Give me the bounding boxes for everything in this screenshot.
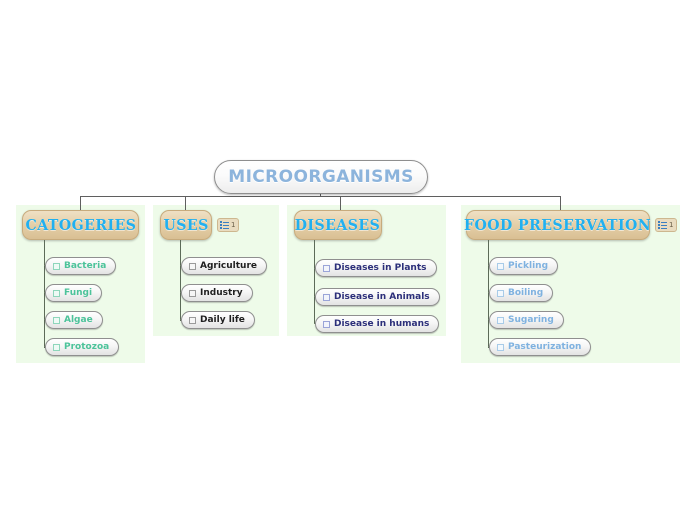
checkbox-icon[interactable] bbox=[53, 290, 60, 297]
checkbox-icon[interactable] bbox=[497, 263, 504, 270]
leaf-label: Algae bbox=[64, 316, 93, 325]
checkbox-icon[interactable] bbox=[189, 263, 196, 270]
root-node-microorganisms[interactable]: MICROORGANISMS bbox=[214, 160, 428, 194]
mindmap-canvas: MICROORGANISMS CATOGERIES Bacteria Fungi… bbox=[0, 0, 696, 520]
branch-spine-uses bbox=[180, 240, 181, 321]
checkbox-icon[interactable] bbox=[53, 317, 60, 324]
leaf-label: Protozoa bbox=[64, 343, 109, 352]
leaf-node[interactable]: Agriculture bbox=[181, 257, 267, 275]
checkbox-icon[interactable] bbox=[497, 344, 504, 351]
note-count: 1 bbox=[231, 222, 235, 229]
leaf-node[interactable]: Boiling bbox=[489, 284, 553, 302]
leaf-node[interactable]: Diseases in Plants bbox=[315, 259, 437, 277]
leaf-node[interactable]: Sugaring bbox=[489, 311, 564, 329]
leaf-label: Disease in humans bbox=[334, 320, 429, 329]
branch-header-label: USES bbox=[163, 216, 208, 234]
note-count: 1 bbox=[669, 222, 673, 229]
leaf-label: Sugaring bbox=[508, 316, 554, 325]
leaf-label: Diseases in Plants bbox=[334, 264, 427, 273]
branch-spine-diseases bbox=[314, 240, 315, 324]
root-node-label: MICROORGANISMS bbox=[228, 167, 413, 187]
branch-header-food-preservation[interactable]: FOOD PRESERVATION bbox=[466, 210, 650, 240]
leaf-label: Pickling bbox=[508, 262, 548, 271]
note-list-icon bbox=[658, 221, 667, 230]
leaf-node[interactable]: Fungi bbox=[45, 284, 102, 302]
leaf-node[interactable]: Bacteria bbox=[45, 257, 116, 275]
leaf-label: Disease in Animals bbox=[334, 293, 430, 302]
leaf-label: Agriculture bbox=[200, 262, 257, 271]
checkbox-icon[interactable] bbox=[497, 290, 504, 297]
note-badge-uses[interactable]: 1 bbox=[217, 218, 239, 232]
branch-header-catogeries[interactable]: CATOGERIES bbox=[22, 210, 139, 240]
branch-header-diseases[interactable]: DISEASES bbox=[294, 210, 382, 240]
leaf-node[interactable]: Algae bbox=[45, 311, 103, 329]
root-bus bbox=[80, 196, 561, 197]
branch-header-label: CATOGERIES bbox=[25, 216, 136, 234]
leaf-label: Industry bbox=[200, 289, 243, 298]
checkbox-icon[interactable] bbox=[189, 317, 196, 324]
checkbox-icon[interactable] bbox=[497, 317, 504, 324]
leaf-node[interactable]: Pickling bbox=[489, 257, 558, 275]
leaf-node[interactable]: Daily life bbox=[181, 311, 255, 329]
checkbox-icon[interactable] bbox=[323, 321, 330, 328]
leaf-label: Daily life bbox=[200, 316, 245, 325]
checkbox-icon[interactable] bbox=[323, 294, 330, 301]
branch-header-label: DISEASES bbox=[295, 216, 381, 234]
leaf-node[interactable]: Disease in Animals bbox=[315, 288, 440, 306]
note-badge-food-preservation[interactable]: 1 bbox=[655, 218, 677, 232]
leaf-node[interactable]: Pasteurization bbox=[489, 338, 591, 356]
checkbox-icon[interactable] bbox=[323, 265, 330, 272]
checkbox-icon[interactable] bbox=[53, 344, 60, 351]
leaf-node[interactable]: Disease in humans bbox=[315, 315, 439, 333]
checkbox-icon[interactable] bbox=[189, 290, 196, 297]
checkbox-icon[interactable] bbox=[53, 263, 60, 270]
leaf-node[interactable]: Industry bbox=[181, 284, 253, 302]
note-list-icon bbox=[220, 221, 229, 230]
leaf-label: Bacteria bbox=[64, 262, 106, 271]
leaf-node[interactable]: Protozoa bbox=[45, 338, 119, 356]
branch-header-label: FOOD PRESERVATION bbox=[464, 216, 651, 234]
leaf-label: Fungi bbox=[64, 289, 92, 298]
leaf-label: Pasteurization bbox=[508, 343, 581, 352]
branch-header-uses[interactable]: USES bbox=[160, 210, 212, 240]
leaf-label: Boiling bbox=[508, 289, 543, 298]
